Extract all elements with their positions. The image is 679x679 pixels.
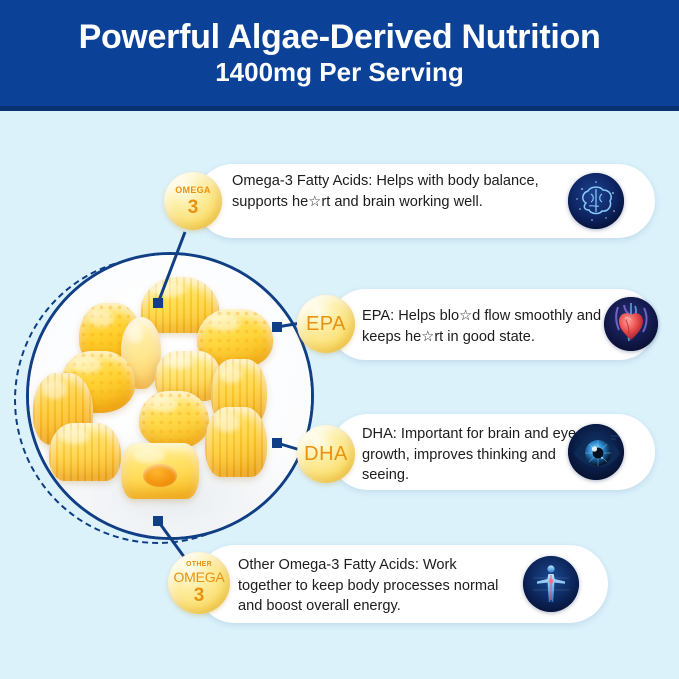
other-omega-3-badge: OTHER OMEGA 3 — [168, 552, 230, 614]
page-subtitle: 1400mg Per Serving — [215, 59, 464, 86]
product-photo-circle — [26, 252, 314, 540]
eye-icon — [568, 424, 624, 480]
dha-badge: DHA — [297, 425, 355, 483]
badge-label-number: 3 — [194, 586, 205, 605]
omega-3-badge: OMEGA 3 — [164, 172, 222, 230]
callout-text: DHA: Important for brain and eye growth,… — [362, 424, 580, 486]
brain-icon — [568, 173, 624, 229]
badge-label-primary: OMEGA — [173, 570, 224, 584]
gummy-piece-cut-open — [121, 443, 199, 499]
gummy-piece — [205, 407, 267, 477]
product-circle-container — [14, 252, 314, 552]
gummy-product-image — [29, 255, 311, 537]
callout-text: Other Omega-3 Fatty Acids: Work together… — [238, 555, 506, 617]
badge-label-primary: EPA — [306, 314, 346, 334]
badge-label-prefix: OTHER — [186, 561, 212, 568]
heart-icon — [604, 297, 658, 351]
page-title: Powerful Algae-Derived Nutrition — [79, 20, 601, 56]
callout-text: Omega-3 Fatty Acids: Helps with body bal… — [232, 171, 556, 212]
infographic-root: Powerful Algae-Derived Nutrition 1400mg … — [0, 0, 679, 679]
badge-label-primary: DHA — [304, 444, 348, 464]
epa-badge: EPA — [297, 295, 355, 353]
badge-label-primary: OMEGA — [175, 186, 211, 195]
header-banner: Powerful Algae-Derived Nutrition 1400mg … — [0, 0, 679, 111]
badge-label-number: 3 — [188, 198, 199, 217]
gummy-piece — [139, 391, 209, 449]
human-body-icon — [523, 556, 579, 612]
callout-text: EPA: Helps blo☆d flow smoothly and keeps… — [362, 306, 614, 347]
gummy-piece — [49, 423, 121, 481]
